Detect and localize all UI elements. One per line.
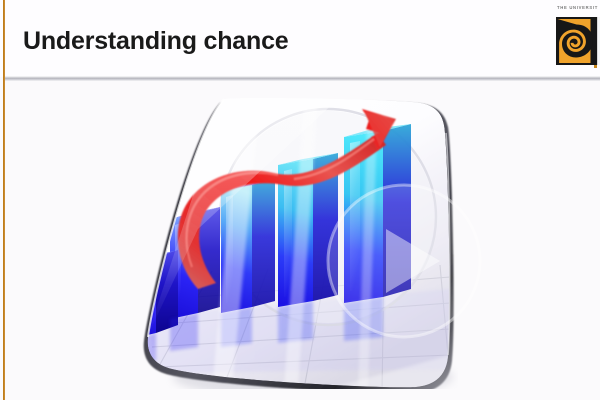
logo-accent-tick xyxy=(594,65,597,68)
3d-bar-chart-graphic xyxy=(128,89,458,389)
koru-spiral-icon xyxy=(556,17,597,65)
logo-wordmark: THE UNIVERSIT xyxy=(557,5,598,10)
slide-body xyxy=(0,81,600,400)
chart-illustration xyxy=(128,89,458,389)
header-divider xyxy=(5,76,600,81)
left-accent-stripe xyxy=(3,0,5,400)
university-logo: THE UNIVERSIT xyxy=(556,3,600,69)
slide-canvas: Understanding chance THE UNIVERSIT xyxy=(0,0,600,400)
page-title: Understanding chance xyxy=(23,27,289,56)
logo-mark-square xyxy=(556,17,597,65)
slide-header: Understanding chance xyxy=(0,0,600,77)
tile-face xyxy=(130,97,450,389)
